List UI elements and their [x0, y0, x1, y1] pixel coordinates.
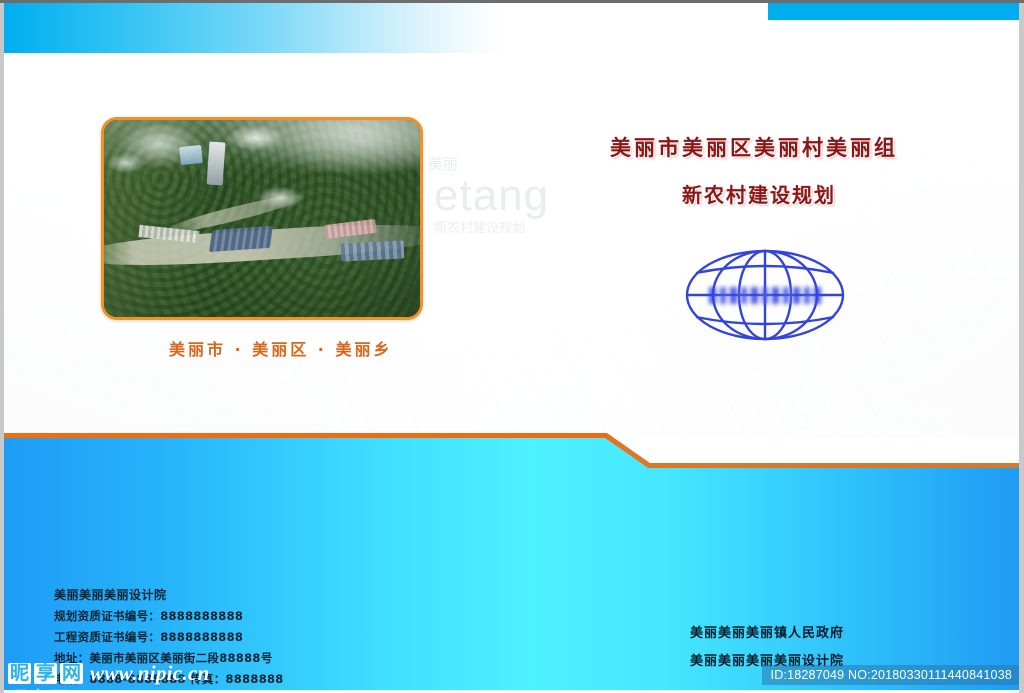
photo-haze-overlay — [104, 120, 420, 317]
government-line-0: 美丽美丽美丽镇人民政府 — [690, 622, 844, 641]
page-title: 美丽市美丽区美丽村美丽组 — [610, 132, 898, 162]
frame-border-top — [0, 0, 1024, 3]
designer-line-0: 规划资质证书编号：8888888888 — [54, 608, 284, 624]
watermark-char-0: 昵 — [8, 663, 31, 684]
cover-design-canvas: 美丽 etang 新农村建设规划 美丽市 · 美丽区 · 美丽乡 美丽市美丽区美… — [0, 0, 1024, 693]
watermark-char-1: 享 — [34, 663, 57, 684]
frame-border-right — [1019, 0, 1024, 693]
ghost-watermark-text: etang — [434, 171, 549, 221]
designer-line-1: 工程资质证书编号：8888888888 — [54, 629, 284, 645]
globe-logo — [684, 247, 846, 343]
page-subtitle: 新农村建设规划 — [682, 179, 836, 208]
designer-org-name: 美丽美丽美丽设计院 — [54, 586, 284, 603]
watermark-brand-chars: 昵 享 网 — [8, 663, 83, 684]
ghost-watermark-small2: 新农村建设规划 — [434, 217, 525, 236]
frame-border-left — [0, 0, 4, 693]
watermark-url: www.nipic.cn — [90, 661, 210, 686]
aerial-village-photo — [101, 117, 423, 320]
logo-text-band — [709, 287, 821, 304]
site-watermark: 昵 享 网 www.nipic.cn — [8, 661, 210, 686]
photo-caption: 美丽市 · 美丽区 · 美丽乡 — [169, 336, 392, 360]
image-id-tag: ID:18287049 NO:20180330111440841038 — [762, 665, 1019, 685]
watermark-char-2: 网 — [60, 663, 83, 684]
top-right-cyan-bar — [768, 3, 1019, 20]
top-left-cyan-gradient-bar — [4, 3, 504, 53]
